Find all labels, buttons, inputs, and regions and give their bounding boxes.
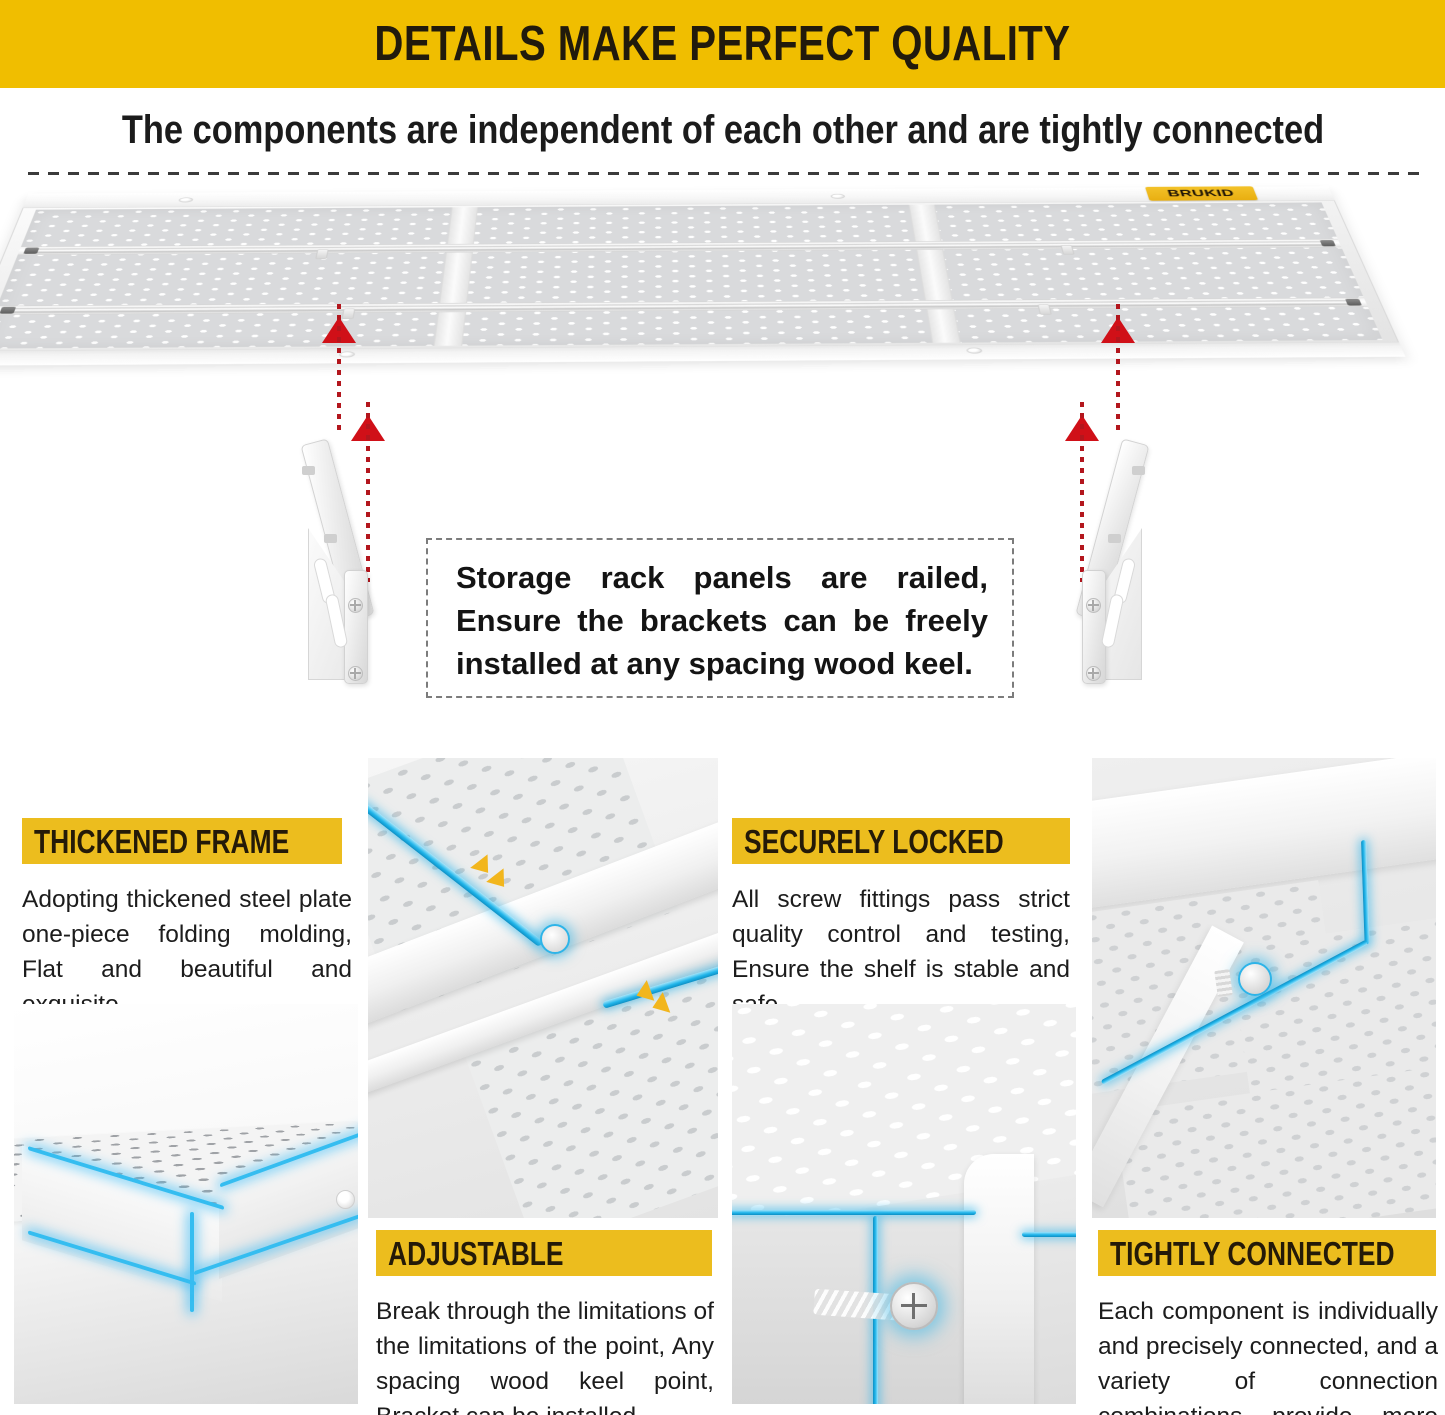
rail-nub: [315, 249, 329, 259]
callout-box: Storage rack panels are railed, Ensure t…: [426, 538, 1014, 698]
rail-end-cap: [1345, 299, 1362, 306]
brand-logo-text: BRUKID: [1166, 188, 1236, 199]
bracket-notch: [302, 466, 315, 475]
hex-screw-head: [890, 1282, 938, 1330]
perforated-panel-corner-photo: [14, 1004, 358, 1404]
feature-label-text: ADJUSTABLE: [388, 1237, 564, 1270]
rail-end-cap: [0, 307, 16, 314]
rail-end-cap: [1320, 240, 1336, 246]
rail-nub: [1037, 304, 1051, 315]
assembly-arrow-stem: [1116, 304, 1120, 432]
cyan-edge-highlight: [732, 1210, 976, 1215]
bracket-screw: [348, 666, 363, 681]
bracket-notch: [1108, 534, 1121, 543]
wall-bracket-left: [292, 442, 412, 697]
cyan-edge-highlight: [190, 1212, 194, 1312]
product-infographic: DETAILS MAKE PERFECT QUALITY The compone…: [0, 0, 1445, 1415]
subtitle-text: The components are independent of each o…: [121, 110, 1323, 150]
callout-text: Storage rack panels are railed, Ensure t…: [456, 556, 988, 685]
bracket-screw: [1086, 666, 1101, 681]
header-banner: DETAILS MAKE PERFECT QUALITY: [0, 0, 1445, 88]
feature-label-tightly-connected: TIGHTLY CONNECTED: [1098, 1230, 1436, 1276]
bolt-highlight: [1238, 962, 1272, 996]
feature-label-text: TIGHTLY CONNECTED: [1110, 1237, 1395, 1270]
wall-bracket-right: [1036, 442, 1156, 697]
feature-desc-securely-locked: All screw fittings pass strict quality c…: [732, 882, 1070, 1022]
bracket-edge: [964, 1154, 1034, 1404]
adjustable-rail-photo: [368, 758, 718, 1218]
feature-label-text: SECURELY LOCKED: [744, 825, 1004, 858]
assembly-arrow-stem: [337, 304, 341, 432]
bolt-highlight: [540, 924, 570, 954]
feature-desc-thickened-frame: Adopting thickened steel plate one-piece…: [22, 882, 352, 1022]
bracket-screw: [1086, 598, 1101, 613]
screw-fitting-photo: [732, 1004, 1076, 1404]
rail-end-cap: [23, 247, 39, 253]
rail-nub: [1061, 245, 1075, 255]
feature-label-text: THICKENED FRAME: [34, 825, 289, 858]
dashed-divider: [28, 172, 1420, 175]
panel-side-hole: [336, 1190, 355, 1209]
mount-hole: [966, 348, 983, 354]
brand-logo-badge: BRUKID: [1145, 186, 1258, 200]
page-title: DETAILS MAKE PERFECT QUALITY: [374, 20, 1070, 69]
bolt-joint-photo: [1092, 758, 1436, 1218]
mount-hole: [830, 194, 845, 199]
feature-label-adjustable: ADJUSTABLE: [376, 1230, 712, 1276]
cyan-edge-highlight: [1022, 1232, 1076, 1237]
perforated-shelf-panel: BRUKID: [0, 186, 1406, 365]
feature-label-thickened-frame: THICKENED FRAME: [22, 818, 342, 864]
bracket-screw: [348, 598, 363, 613]
subtitle-row: The components are independent of each o…: [0, 92, 1445, 168]
feature-label-securely-locked: SECURELY LOCKED: [732, 818, 1070, 864]
bracket-notch: [324, 534, 337, 543]
bracket-notch: [1132, 466, 1145, 475]
features-grid: THICKENED FRAME Adopting thickened steel…: [0, 756, 1445, 1415]
feature-desc-tightly-connected: Each component is individually and preci…: [1098, 1294, 1438, 1415]
feature-desc-adjustable: Break through the limitations of the lim…: [376, 1294, 714, 1415]
perforation-field: [0, 202, 1383, 348]
